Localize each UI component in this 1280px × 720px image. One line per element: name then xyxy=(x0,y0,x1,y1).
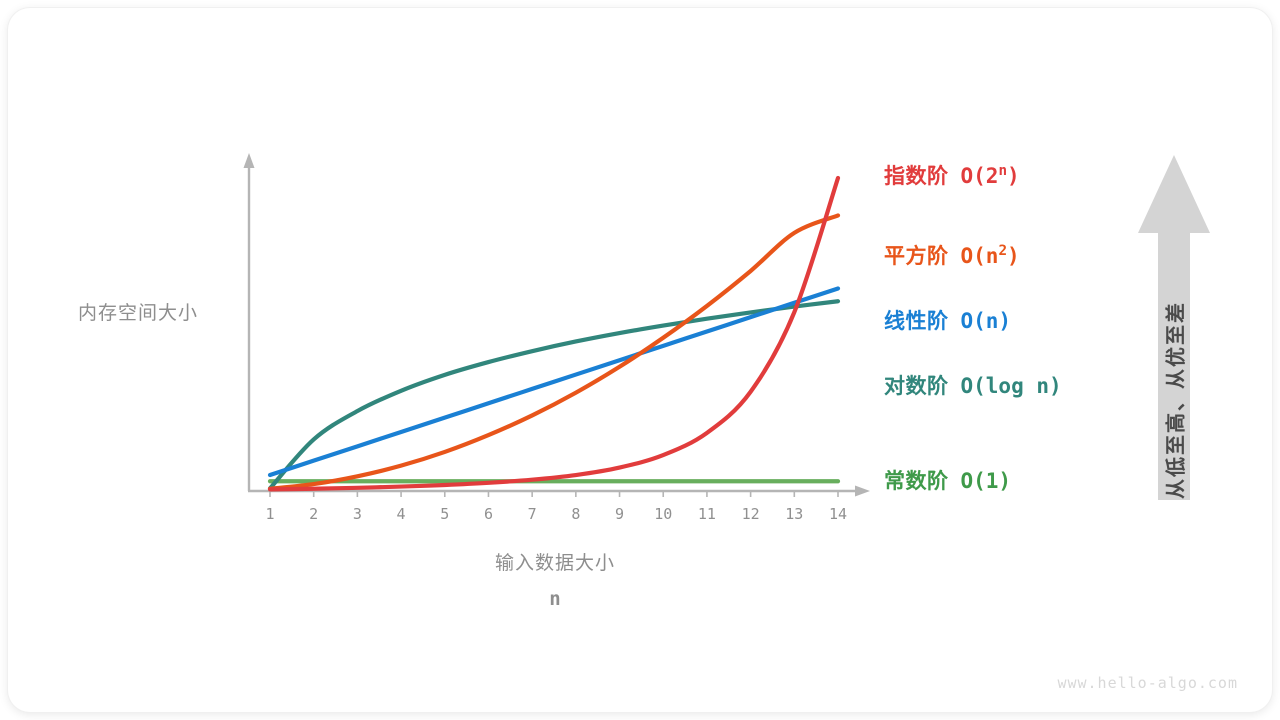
x-axis-tick-label: 3 xyxy=(337,505,377,523)
series-line xyxy=(270,301,838,488)
chart-area: 1234567891011121314 内存空间大小 输入数据大小 n 指数阶O… xyxy=(0,0,1280,720)
legend-item-notation: O(log n) xyxy=(961,374,1062,398)
legend-item-notation: O(1) xyxy=(961,469,1012,493)
axes-group xyxy=(244,153,871,497)
watermark: www.hello-algo.com xyxy=(1057,674,1238,692)
x-axis-tick-label: 1 xyxy=(250,505,290,523)
chart-svg xyxy=(0,0,1280,720)
x-axis-variable: n xyxy=(0,588,1110,610)
legend-item-notation: O(n2) xyxy=(961,244,1020,268)
x-axis-tick-label: 6 xyxy=(468,505,508,523)
legend-item: 常数阶O(1) xyxy=(884,465,1011,495)
legend-item: 线性阶O(n) xyxy=(884,305,1011,335)
series-curves xyxy=(270,178,838,489)
x-axis-tick-label: 4 xyxy=(381,505,421,523)
x-axis-arrowhead xyxy=(855,486,870,497)
legend-item-name: 指数阶 xyxy=(884,160,949,190)
ranking-arrow: 从低至高、从优至差 xyxy=(1138,155,1210,500)
x-axis-tick-label: 7 xyxy=(512,505,552,523)
legend-item-name: 对数阶 xyxy=(884,370,949,400)
legend-item-name: 平方阶 xyxy=(884,240,949,270)
x-axis-tick-label: 11 xyxy=(687,505,727,523)
x-axis-tick-label: 2 xyxy=(294,505,334,523)
legend-item-notation: O(n) xyxy=(961,309,1012,333)
y-axis-title: 内存空间大小 xyxy=(78,298,198,325)
x-axis-tick-label: 14 xyxy=(818,505,858,523)
legend-item: 指数阶O(2n) xyxy=(884,160,1020,190)
series-line xyxy=(270,178,838,489)
legend-item-name: 常数阶 xyxy=(884,465,949,495)
series-line xyxy=(270,288,838,475)
legend-item: 平方阶O(n2) xyxy=(884,240,1020,270)
x-axis-tick-label: 9 xyxy=(600,505,640,523)
ranking-arrow-label: 从低至高、从优至差 xyxy=(1160,301,1189,499)
x-axis-tick-label: 5 xyxy=(425,505,465,523)
screenshot-root: 1234567891011121314 内存空间大小 输入数据大小 n 指数阶O… xyxy=(0,0,1280,720)
x-axis-tick-label: 13 xyxy=(774,505,814,523)
legend-item-name: 线性阶 xyxy=(884,305,949,335)
x-axis-title: 输入数据大小 xyxy=(0,548,1110,575)
legend-item: 对数阶O(log n) xyxy=(884,370,1062,400)
x-axis-tick-label: 12 xyxy=(731,505,771,523)
legend-item-notation: O(2n) xyxy=(961,164,1020,188)
x-axis-tick-label: 10 xyxy=(643,505,683,523)
y-axis-arrowhead xyxy=(244,153,255,168)
x-axis-tick-label: 8 xyxy=(556,505,596,523)
